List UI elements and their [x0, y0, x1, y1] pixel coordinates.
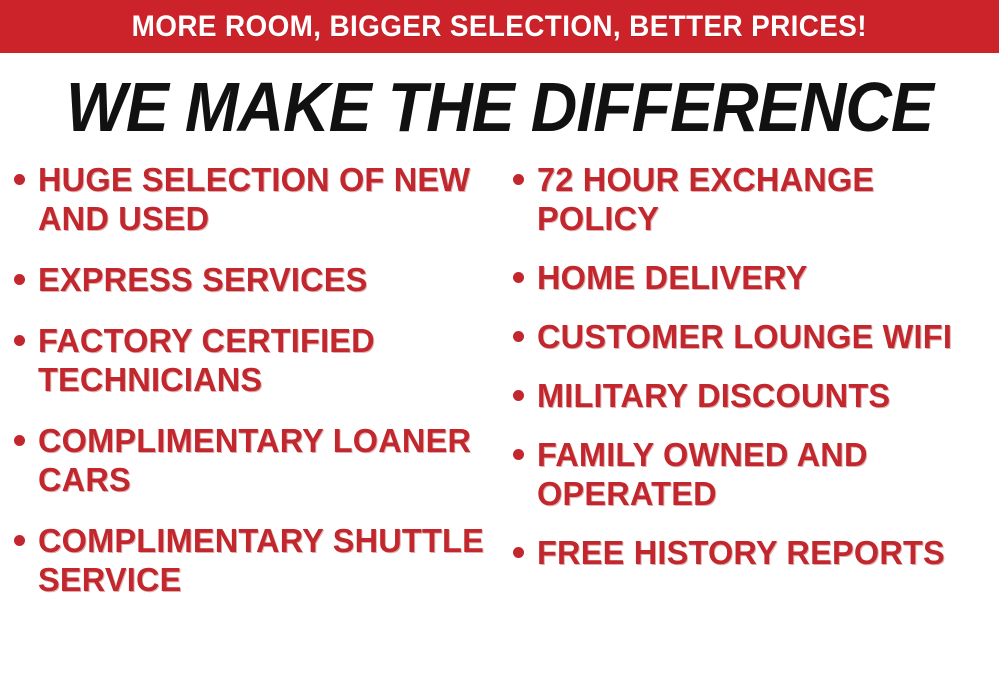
bullet-dot-icon: [513, 547, 524, 558]
list-item-label: FAMILY OWNED AND OPERATED: [537, 435, 992, 513]
list-item-label: FREE HISTORY REPORTS: [537, 533, 992, 572]
bullet-dot-icon: [14, 435, 25, 446]
list-item-label: COMPLIMENTARY SHUTTLE SERVICE: [38, 521, 487, 599]
list-item-label: 72 HOUR EXCHANGE POLICY: [537, 160, 992, 238]
list-item: COMPLIMENTARY SHUTTLE SERVICE: [14, 521, 494, 599]
bullet-dot-icon: [513, 174, 524, 185]
list-item: FACTORY CERTIFIED TECHNICIANS: [14, 321, 494, 399]
bullet-dot-icon: [14, 274, 25, 285]
benefits-columns: HUGE SELECTION OF NEW AND USED EXPRESS S…: [0, 160, 999, 692]
benefits-column-left: HUGE SELECTION OF NEW AND USED EXPRESS S…: [14, 160, 494, 621]
list-item-label: EXPRESS SERVICES: [38, 260, 487, 299]
list-item-label: CUSTOMER LOUNGE WIFI: [537, 317, 992, 356]
bullet-dot-icon: [513, 390, 524, 401]
list-item: HUGE SELECTION OF NEW AND USED: [14, 160, 494, 238]
page-title: WE MAKE THE DIFFERENCE: [40, 70, 959, 144]
list-item: COMPLIMENTARY LOANER CARS: [14, 421, 494, 499]
bullet-dot-icon: [513, 449, 524, 460]
bullet-dot-icon: [14, 335, 25, 346]
list-item-label: COMPLIMENTARY LOANER CARS: [38, 421, 487, 499]
bullet-dot-icon: [14, 174, 25, 185]
list-item: CUSTOMER LOUNGE WIFI: [513, 317, 999, 356]
banner-headline-text: MORE ROOM, BIGGER SELECTION, BETTER PRIC…: [132, 12, 867, 42]
bullet-dot-icon: [513, 331, 524, 342]
top-banner: MORE ROOM, BIGGER SELECTION, BETTER PRIC…: [0, 0, 999, 53]
list-item-label: HOME DELIVERY: [537, 258, 992, 297]
list-item: EXPRESS SERVICES: [14, 260, 494, 299]
list-item: FAMILY OWNED AND OPERATED: [513, 435, 999, 513]
list-item: 72 HOUR EXCHANGE POLICY: [513, 160, 999, 238]
list-item-label: FACTORY CERTIFIED TECHNICIANS: [38, 321, 487, 399]
list-item: MILITARY DISCOUNTS: [513, 376, 999, 415]
list-item: HOME DELIVERY: [513, 258, 999, 297]
bullet-dot-icon: [513, 272, 524, 283]
list-item-label: HUGE SELECTION OF NEW AND USED: [38, 160, 487, 238]
bullet-dot-icon: [14, 535, 25, 546]
list-item: FREE HISTORY REPORTS: [513, 533, 999, 572]
benefits-column-right: 72 HOUR EXCHANGE POLICY HOME DELIVERY CU…: [513, 160, 999, 592]
list-item-label: MILITARY DISCOUNTS: [537, 376, 992, 415]
promo-poster: MORE ROOM, BIGGER SELECTION, BETTER PRIC…: [0, 0, 999, 692]
